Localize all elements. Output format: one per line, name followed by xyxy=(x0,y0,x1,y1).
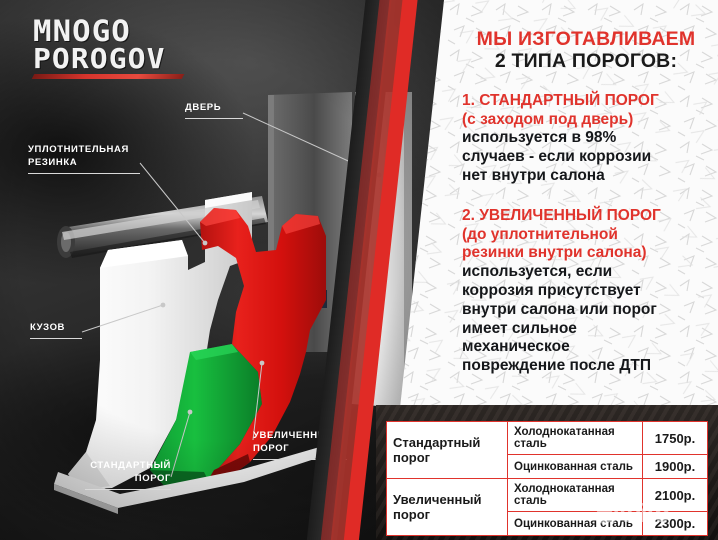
callout-seal-label-line1: УПЛОТНИТЕЛЬНАЯ xyxy=(28,144,140,157)
price-table: Стандартный порог Холоднокатанная сталь … xyxy=(386,421,708,536)
callout-body-label: КУЗОВ xyxy=(30,322,82,335)
block2-body-line3: внутри салона или порог xyxy=(462,301,712,320)
callout-seal-rule xyxy=(28,173,140,174)
callout-standard-line2: ПОРОГ xyxy=(85,473,171,486)
price-row-steel-3: Холоднокатанная сталь xyxy=(508,479,643,512)
callout-body-rule xyxy=(30,338,82,339)
callout-door-label: ДВЕРЬ xyxy=(185,102,243,115)
block2-subtitle-line2: резинки внутри салона) xyxy=(462,244,712,263)
block1-body-line1: используется в 98% xyxy=(462,129,712,148)
logo-red-bar xyxy=(32,74,185,79)
price-row-price-3: 2100р. xyxy=(643,479,708,512)
headline: МЫ ИЗГОТАВЛИВАЕМ 2 ТИПА ПОРОГОВ: xyxy=(462,28,710,74)
block1-title: 1. СТАНДАРТНЫЙ ПОРОГ xyxy=(462,92,712,111)
price-row-steel-1: Холоднокатанная сталь xyxy=(508,422,643,455)
price-row-price-4: 2300р. xyxy=(643,512,708,536)
callout-door: ДВЕРЬ xyxy=(185,102,243,119)
callout-seal-label-line2: РЕЗИНКА xyxy=(28,157,140,170)
block1-body-line3: нет внутри салона xyxy=(462,167,712,186)
price-row-name-standard: Стандартный порог xyxy=(387,422,508,479)
logo-line-2: POROGOV xyxy=(33,46,203,72)
callout-door-rule xyxy=(185,118,243,119)
block1-body-line2: случаев - если коррозии xyxy=(462,148,712,167)
callout-standard-line1: СТАНДАРТНЫЙ xyxy=(85,460,171,473)
block2-subtitle-line1: (до уплотнительной xyxy=(462,226,712,245)
price-row-price-1: 1750р. xyxy=(643,422,708,455)
callout-standard-rule xyxy=(85,489,171,490)
block2-body-line1: используется, если xyxy=(462,263,712,282)
block2-title: 2. УВЕЛИЧЕННЫЙ ПОРОГ xyxy=(462,207,712,226)
table-row: Увеличенный порог Холоднокатанная сталь … xyxy=(387,479,708,512)
block2-body-line6: повреждение после ДТП xyxy=(462,357,712,376)
callout-seal: УПЛОТНИТЕЛЬНАЯ РЕЗИНКА xyxy=(28,144,140,174)
block2-body-line4: имеет сильное xyxy=(462,320,712,339)
callout-standard-sill: СТАНДАРТНЫЙ ПОРОГ xyxy=(85,460,171,490)
headline-line-2: 2 ТИПА ПОРОГОВ: xyxy=(462,50,710,73)
logo-line-1: MNOGO xyxy=(33,18,203,45)
poster-root: MNOGO POROGOV ДВЕРЬ УПЛОТНИТЕЛЬНАЯ РЕЗИН… xyxy=(0,0,718,540)
price-row-steel-4: Оцинкованная сталь xyxy=(508,512,643,536)
price-row-name-enlarged: Увеличенный порог xyxy=(387,479,508,536)
info-block-standard: 1. СТАНДАРТНЫЙ ПОРОГ (с заходом под двер… xyxy=(462,92,712,186)
block2-body-line5: механическое xyxy=(462,338,712,357)
block2-body-line2: коррозия присутствует xyxy=(462,282,712,301)
headline-line-1: МЫ ИЗГОТАВЛИВАЕМ xyxy=(462,28,710,50)
price-row-steel-2: Оцинкованная сталь xyxy=(508,455,643,479)
table-row: Стандартный порог Холоднокатанная сталь … xyxy=(387,422,708,455)
brand-logo[interactable]: MNOGO POROGOV xyxy=(33,18,193,79)
price-row-price-2: 1900р. xyxy=(643,455,708,479)
info-block-enlarged: 2. УВЕЛИЧЕННЫЙ ПОРОГ (до уплотнительной … xyxy=(462,207,712,376)
block1-subtitle: (с заходом под дверь) xyxy=(462,111,712,130)
callout-body: КУЗОВ xyxy=(30,322,82,339)
